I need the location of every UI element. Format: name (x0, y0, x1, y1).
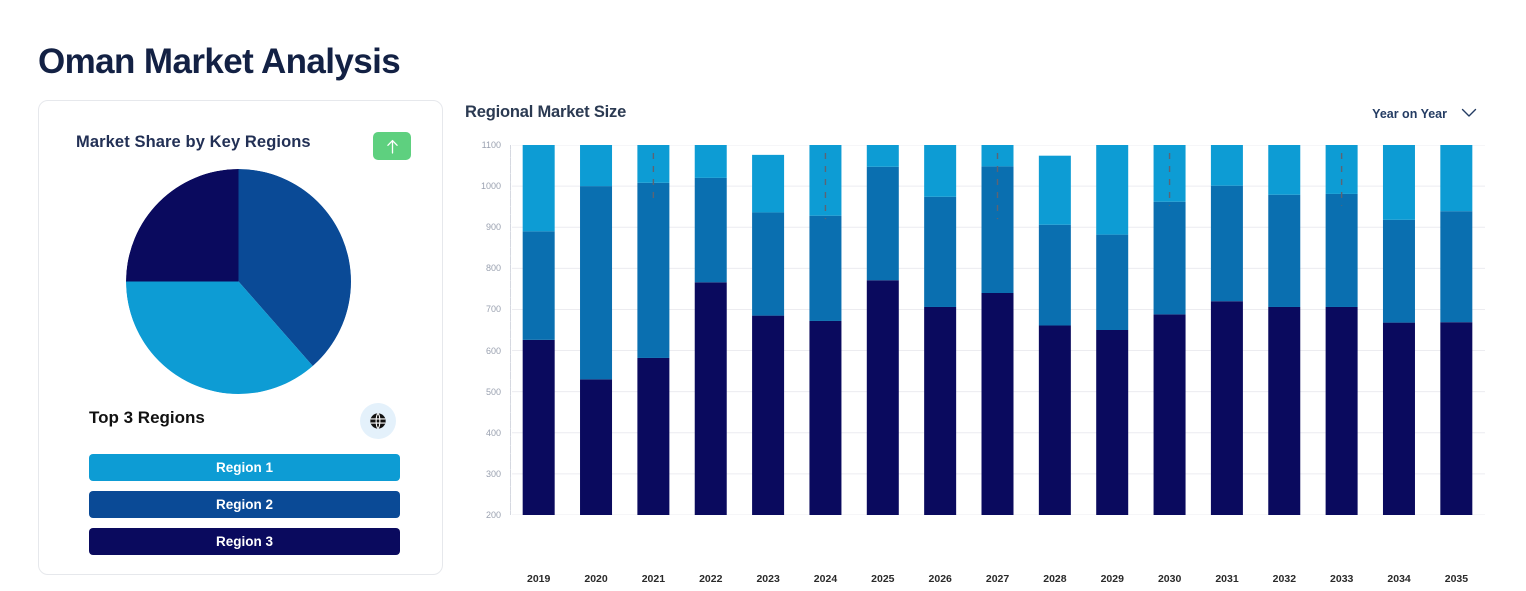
period-dropdown[interactable]: Year on Year (1372, 105, 1477, 123)
x-tick-label: 2030 (1141, 573, 1198, 591)
chevron-down-icon (1461, 105, 1477, 123)
y-tick-label: 400 (486, 428, 501, 438)
globe-icon[interactable] (360, 403, 396, 439)
x-tick-label: 2020 (567, 573, 624, 591)
y-tick-label: 200 (486, 510, 501, 520)
x-tick-label: 2021 (625, 573, 682, 591)
x-tick-label: 2029 (1084, 573, 1141, 591)
x-tick-label: 2034 (1370, 573, 1427, 591)
x-tick-label: 2032 (1256, 573, 1313, 591)
x-tick-label: 2027 (969, 573, 1026, 591)
region-pill-2[interactable]: Region 2 (89, 491, 400, 518)
plot-area (510, 145, 1485, 515)
region-pill-3-label: Region 3 (216, 534, 273, 549)
x-tick-label: 2024 (797, 573, 854, 591)
x-tick-label: 2025 (854, 573, 911, 591)
x-axis: 2019202020212022202320242025202620272028… (510, 573, 1485, 591)
arrow-up-button[interactable] (373, 132, 411, 160)
dashed-markers (510, 145, 1485, 515)
x-tick-label: 2033 (1313, 573, 1370, 591)
y-tick-label: 700 (486, 304, 501, 314)
market-share-card: Market Share by Key Regions Top 3 Region… (38, 100, 443, 575)
y-tick-label: 1100 (482, 140, 501, 150)
chart-title: Regional Market Size (465, 103, 626, 122)
region-pill-3[interactable]: Region 3 (89, 528, 400, 555)
y-tick-label: 600 (486, 346, 501, 356)
pie-svg (126, 169, 351, 394)
top-regions-list: Region 1 Region 2 Region 3 (89, 454, 400, 565)
x-tick-label: 2035 (1428, 573, 1485, 591)
pie-slice-region-3 (126, 169, 239, 282)
y-axis: 11001000900800700600500400300200 (465, 145, 505, 515)
y-tick-label: 300 (486, 469, 501, 479)
page-title: Oman Market Analysis (38, 42, 400, 82)
x-tick-label: 2031 (1198, 573, 1255, 591)
region-pill-1-label: Region 1 (216, 460, 273, 475)
top-regions-heading: Top 3 Regions (89, 408, 205, 428)
x-tick-label: 2022 (682, 573, 739, 591)
regional-market-size-panel: Regional Market Size Year on Year 110010… (455, 95, 1495, 565)
region-pill-1[interactable]: Region 1 (89, 454, 400, 481)
arrow-up-icon (386, 139, 399, 154)
period-dropdown-label: Year on Year (1372, 107, 1447, 121)
region-pill-2-label: Region 2 (216, 497, 273, 512)
dashboard-page: Oman Market Analysis Market Share by Key… (0, 0, 1526, 591)
market-share-title: Market Share by Key Regions (76, 133, 311, 152)
x-tick-label: 2019 (510, 573, 567, 591)
market-share-card-header: Market Share by Key Regions (39, 115, 442, 149)
bar-chart: 11001000900800700600500400300200 2019202… (465, 145, 1485, 515)
x-tick-label: 2026 (912, 573, 969, 591)
x-tick-label: 2028 (1026, 573, 1083, 591)
y-tick-label: 1000 (481, 181, 501, 191)
x-tick-label: 2023 (739, 573, 796, 591)
y-tick-label: 500 (486, 387, 501, 397)
y-tick-label: 800 (486, 263, 501, 273)
y-tick-label: 900 (486, 222, 501, 232)
market-share-pie-chart (126, 169, 351, 394)
